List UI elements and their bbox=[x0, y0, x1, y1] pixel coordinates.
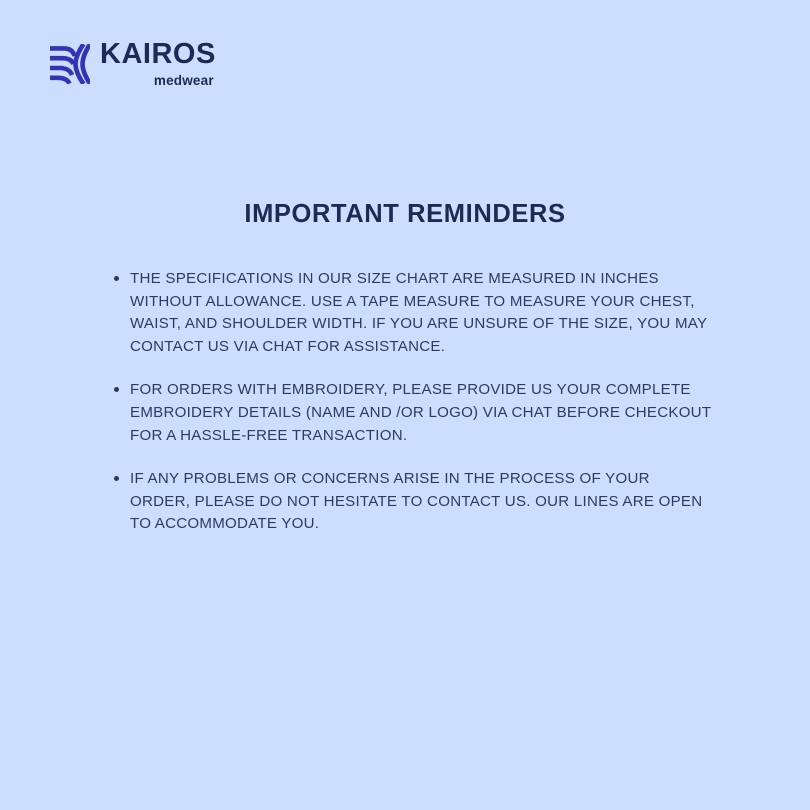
reminders-list: THE SPECIFICATIONS IN OUR SIZE CHART ARE… bbox=[113, 268, 713, 536]
brand-tagline: medwear bbox=[154, 74, 216, 88]
bullet-dot-icon bbox=[114, 476, 119, 481]
reminders-page: { "brand": { "mark_icon": "kairos-k-logo… bbox=[0, 0, 810, 810]
kairos-k-logo-icon bbox=[50, 44, 90, 84]
list-item: THE SPECIFICATIONS IN OUR SIZE CHART ARE… bbox=[113, 268, 713, 358]
brand-wordmark-group: KAIROS medwear bbox=[100, 40, 216, 88]
bullet-dot-icon bbox=[114, 387, 119, 392]
list-item: IF ANY PROBLEMS OR CONCERNS ARISE IN THE… bbox=[113, 468, 713, 536]
brand-wordmark: KAIROS bbox=[100, 40, 216, 69]
bullet-dot-icon bbox=[114, 276, 119, 281]
list-item-text: THE SPECIFICATIONS IN OUR SIZE CHART ARE… bbox=[130, 270, 707, 355]
page-title: IMPORTANT REMINDERS bbox=[0, 200, 810, 229]
list-item-text: FOR ORDERS WITH EMBROIDERY, PLEASE PROVI… bbox=[130, 381, 711, 443]
brand-logo: KAIROS medwear bbox=[50, 40, 216, 88]
list-item: FOR ORDERS WITH EMBROIDERY, PLEASE PROVI… bbox=[113, 379, 713, 447]
list-item-text: IF ANY PROBLEMS OR CONCERNS ARISE IN THE… bbox=[130, 470, 702, 532]
